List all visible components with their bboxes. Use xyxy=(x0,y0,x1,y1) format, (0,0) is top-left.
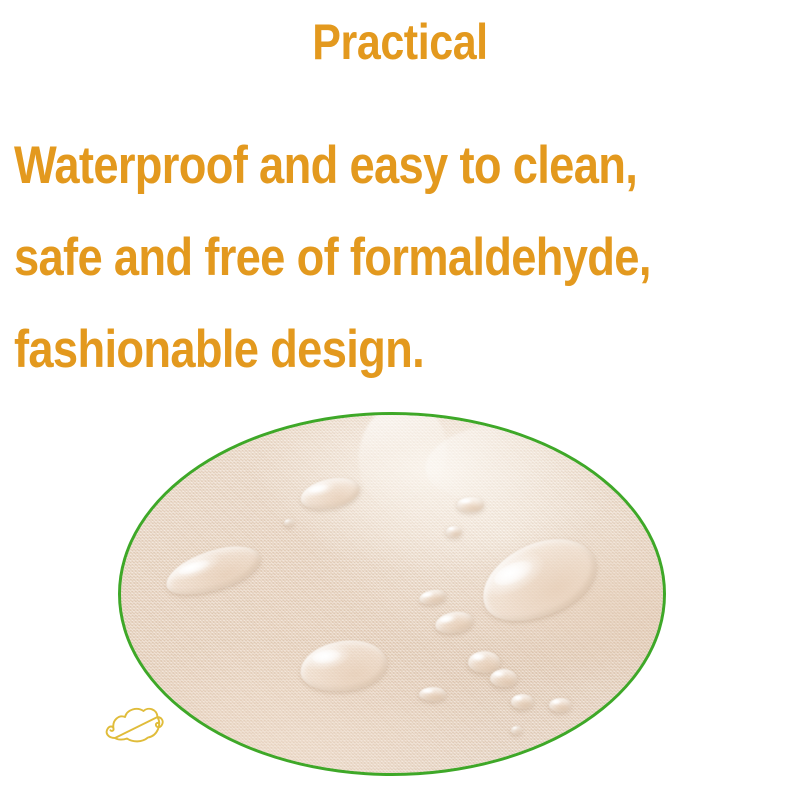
droplet-right-small-2 xyxy=(446,526,462,537)
droplet-bead-9 xyxy=(511,726,522,733)
body-copy-block: Waterproof and easy to clean, safe and f… xyxy=(14,120,800,396)
droplet-bead-3 xyxy=(468,651,501,672)
poster-canvas: Practical Waterproof and easy to clean, … xyxy=(0,0,800,800)
cloud-outline-icon xyxy=(101,698,167,750)
photo-ellipse-frame xyxy=(118,412,666,776)
product-photo xyxy=(118,412,666,776)
droplet-bead-6 xyxy=(511,694,533,708)
droplet-bead-4 xyxy=(490,669,517,687)
body-copy-line-3: fashionable design. xyxy=(14,304,689,396)
droplet-right-small-1 xyxy=(457,497,484,511)
droplet-bead-7 xyxy=(549,698,571,712)
page-title: Practical xyxy=(56,14,744,70)
droplet-bead-8 xyxy=(284,519,295,526)
body-copy-line-2: safe and free of formaldehyde, xyxy=(14,212,689,304)
body-copy-line-1: Waterproof and easy to clean, xyxy=(14,120,689,212)
